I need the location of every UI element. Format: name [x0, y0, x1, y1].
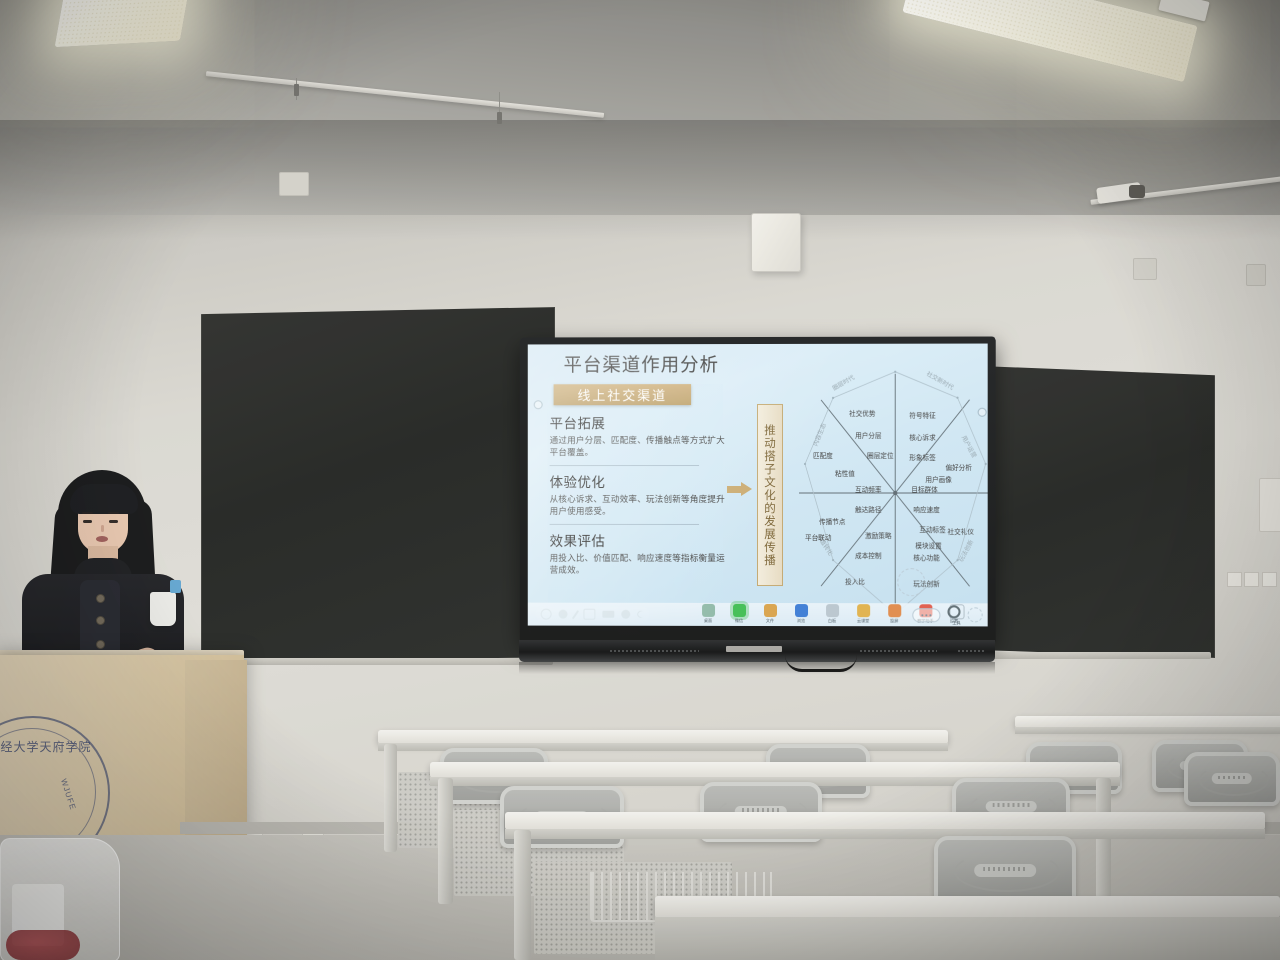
taskbar-label: 白板 [828, 618, 836, 624]
wall-switch-panel[interactable] [1259, 478, 1280, 532]
files-icon[interactable] [763, 604, 776, 617]
light-switch[interactable] [1262, 572, 1277, 587]
diagram-label: 传播节点 [819, 516, 845, 526]
gear-icon[interactable] [947, 605, 960, 618]
taskbar-item-cloud-class[interactable]: 云课堂 [852, 604, 874, 624]
diagram-label: 社交优势 [849, 408, 875, 418]
diagram-svg [795, 364, 988, 623]
section-body: 通过用户分层、匹配度、传播触点等方式扩大平台覆盖。 [550, 435, 725, 460]
slide-hotspot-right[interactable] [978, 408, 987, 417]
system-taskbar[interactable]: 桌面 微信 文件 浏览 [528, 603, 988, 627]
diagram-label: 符号特征 [909, 410, 935, 420]
diagram-label: 匹配度 [813, 450, 833, 460]
taskbar-item-whiteboard[interactable]: 白板 [821, 604, 843, 624]
camera-icon [1129, 185, 1145, 198]
whiteboard-icon[interactable] [826, 604, 839, 617]
diagram-label: 互动标签 [919, 524, 945, 534]
taskbar-label: 桌面 [704, 617, 712, 623]
slide-title: 平台渠道作用分析 [564, 351, 719, 377]
blue-object [170, 580, 181, 593]
diagram-label: 用户分层 [855, 430, 881, 440]
presenter-brow [82, 512, 93, 514]
section-body: 从核心诉求、互动效率、玩法创新等角度提升用户使用感受。 [550, 494, 725, 519]
desk-surface [655, 896, 1280, 918]
vertical-banner-label: 推动搭子文化的发展传播 [762, 423, 778, 566]
diagram-label: 核心功能 [913, 552, 939, 562]
desk-surface [378, 730, 948, 744]
diagram-label: 偏好分析 [945, 462, 972, 472]
diagram-label: 社交礼仪 [947, 526, 974, 536]
wall-mounted-speaker [751, 213, 801, 272]
diagram-label: 投入比 [845, 576, 865, 586]
desk-surface [430, 762, 1120, 778]
wechat-icon[interactable] [733, 603, 746, 616]
more-dots-button[interactable] [912, 608, 940, 622]
coat-button [96, 616, 105, 625]
light-switch[interactable] [1227, 572, 1242, 587]
diagram-label: 互动频率 [855, 484, 881, 494]
right-arrow-icon [727, 482, 753, 496]
desk-leg [438, 778, 453, 904]
display-screen[interactable]: 平台渠道作用分析 线上社交渠道 平台拓展 通过用户分层、匹配度、传播触点等方式扩… [528, 344, 988, 627]
divider [550, 524, 699, 525]
ceiling-hanger-node [497, 112, 502, 124]
ceiling-light-panel-1 [55, 0, 194, 47]
desk-leg [514, 830, 531, 960]
settings-label: 设置 [950, 618, 958, 624]
diagram-label: 成本控制 [855, 550, 881, 560]
presenter-brow [108, 512, 119, 514]
vertical-banner: 推动搭子文化的发展传播 [757, 404, 783, 586]
chalk-tray [957, 652, 1211, 659]
taskbar-item-browser[interactable]: 浏览 [790, 604, 812, 624]
diagram-label: 激励策略 [865, 530, 891, 540]
desktop-icon[interactable] [702, 603, 715, 616]
taskbar-label: 浏览 [797, 618, 805, 624]
taskbar-label: 文件 [766, 618, 774, 624]
taskbar-items: 桌面 微信 文件 浏览 [548, 603, 968, 626]
presenter-nose [101, 525, 104, 532]
bag-red-item [6, 930, 80, 960]
taskbar-item-wechat[interactable]: 微信 [728, 603, 750, 623]
classroom-scene: 平台渠道作用分析 线上社交渠道 平台拓展 通过用户分层、匹配度、传播触点等方式扩… [0, 0, 1280, 960]
taskbar-label: 微信 [735, 617, 743, 623]
wall-vent [1246, 264, 1266, 286]
chalk-tray [205, 658, 553, 665]
diagram-label: 响应速度 [913, 504, 939, 514]
ceiling-hanger-node [294, 84, 299, 96]
presenter [8, 470, 188, 670]
coat-button [96, 594, 105, 603]
slide-section-3: 效果评估 用投入比、价值匹配、响应速度等指标衡量运营成效。 [550, 530, 725, 578]
smart-display[interactable]: 平台渠道作用分析 线上社交渠道 平台拓展 通过用户分层、匹配度、传播触点等方式扩… [520, 336, 996, 644]
blackboard-panel-left [201, 307, 555, 661]
slide-section-2: 体验优化 从核心诉求、互动效率、玩法创新等角度提升用户使用感受。 [550, 471, 725, 529]
section-heading: 平台拓展 [550, 412, 725, 432]
diagram-label: 用户画像 [925, 474, 952, 484]
slide-section-1: 平台拓展 通过用户分层、匹配度、传播触点等方式扩大平台覆盖。 [550, 412, 725, 470]
desk-surface [505, 812, 1265, 830]
cast-icon[interactable] [888, 604, 901, 617]
section-heading: 效果评估 [550, 530, 725, 550]
display-brand-plate [726, 646, 782, 652]
desk-edge [505, 829, 1265, 839]
diagram-label: 触达路径 [855, 504, 881, 514]
diagram-label: 圈层定位 [867, 450, 893, 460]
indicator-strip [957, 649, 985, 653]
taskbar-item-files[interactable]: 文件 [759, 604, 781, 624]
presenter-eye [83, 520, 92, 523]
speaker-grille-left [609, 649, 699, 653]
taskbar-right-group: 设置 [912, 605, 982, 624]
diagram-label: 粘性值 [835, 468, 855, 478]
browser-icon[interactable] [795, 604, 808, 617]
cloud-class-icon[interactable] [857, 604, 870, 617]
divider [550, 465, 699, 466]
slide-hotspot-left[interactable] [534, 400, 543, 409]
diagram-label: 目标群体 [911, 484, 937, 494]
coat-button [96, 640, 105, 649]
presenter-bangs [70, 484, 138, 514]
taskbar-label: 投屏 [890, 618, 898, 624]
taskbar-item-desktop[interactable]: 桌面 [697, 603, 719, 623]
paper-cup [150, 592, 176, 626]
slide-badge: 线上社交渠道 [554, 384, 691, 405]
taskbar-label: 云课堂 [857, 618, 869, 624]
diagram-label: 平台联动 [805, 532, 831, 542]
presenter-eye [109, 520, 118, 523]
diagram-label: 形象标签 [909, 452, 935, 462]
light-switch[interactable] [1244, 572, 1259, 587]
wall-vent [279, 172, 309, 196]
floating-handle[interactable] [897, 568, 925, 596]
speaker-grille-right [859, 649, 937, 653]
classroom-chair [1184, 752, 1280, 806]
desk-edge [655, 917, 1280, 960]
display-drop-shadow [519, 662, 995, 674]
desk-leg [384, 744, 397, 852]
section-body: 用投入比、价值匹配、响应速度等指标衡量运营成效。 [550, 553, 725, 578]
ceiling-shadow [0, 120, 1280, 240]
presenter-mouth [96, 536, 108, 542]
wall-vent [1133, 258, 1157, 280]
back-icon[interactable] [968, 607, 983, 622]
section-heading: 体验优化 [550, 471, 725, 491]
diagram-label: 核心诉求 [909, 432, 935, 442]
taskbar-item-cast[interactable]: 投屏 [883, 604, 905, 624]
presentation-slide: 平台渠道作用分析 线上社交渠道 平台拓展 通过用户分层、匹配度、传播触点等方式扩… [528, 344, 988, 627]
diagram-label: 模块设置 [915, 540, 941, 550]
podium-emblem-text: 经大学天府学院 [0, 738, 106, 755]
desk-edge [1015, 727, 1280, 734]
radial-diagram: 圈层时代 社交新时代 用户运营 玩法创新 内容生态 价值转化 社交优势 符号特征… [795, 364, 988, 623]
